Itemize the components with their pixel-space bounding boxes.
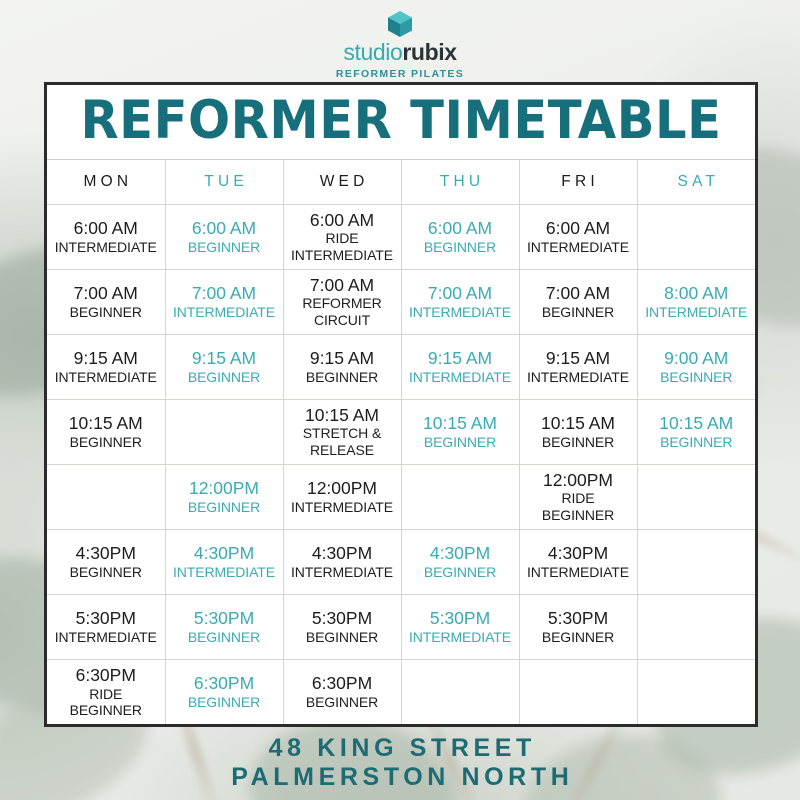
class-cell-sat[interactable]: 10:15 AMBEGINNER <box>637 399 755 464</box>
class-label: BEGINNER <box>49 304 163 320</box>
class-cell-wed[interactable]: 4:30PMINTERMEDIATE <box>283 529 401 594</box>
timetable-header: MONTUEWEDTHUFRISAT <box>47 160 755 204</box>
class-time: 6:00 AM <box>49 218 163 238</box>
timetable-row: 4:30PMBEGINNER4:30PMINTERMEDIATE4:30PMIN… <box>47 529 755 594</box>
class-label: INTERMEDIATE <box>522 239 635 255</box>
class-cell-content: 6:00 AMBEGINNER <box>168 218 281 255</box>
class-label: BEGINNER <box>522 629 635 645</box>
class-cell-fri[interactable]: 6:00 AMINTERMEDIATE <box>519 204 637 269</box>
class-time: 12:00PM <box>286 478 399 498</box>
class-time: 6:30PM <box>286 673 399 693</box>
brand-name-rubix: rubix <box>402 39 456 65</box>
class-cell-empty <box>519 659 637 724</box>
class-label: BEGINNER <box>168 694 281 710</box>
class-cell-empty <box>637 464 755 529</box>
class-label: BEGINNER <box>286 369 399 385</box>
class-label: BEGINNER <box>404 564 517 580</box>
class-cell-thu[interactable]: 5:30PMINTERMEDIATE <box>401 594 519 659</box>
class-cell-mon[interactable]: 6:00 AMINTERMEDIATE <box>47 204 165 269</box>
class-label: INTERMEDIATE <box>404 304 517 320</box>
class-time: 10:15 AM <box>640 413 754 433</box>
class-label: CIRCUIT <box>286 312 399 328</box>
timetable-row: 10:15 AMBEGINNER10:15 AMSTRETCH &RELEASE… <box>47 399 755 464</box>
class-label: INTERMEDIATE <box>522 369 635 385</box>
class-cell-mon[interactable]: 4:30PMBEGINNER <box>47 529 165 594</box>
class-time: 10:15 AM <box>404 413 517 433</box>
class-cell-content: 8:00 AMINTERMEDIATE <box>640 283 754 320</box>
class-cell-content: 4:30PMINTERMEDIATE <box>168 543 281 580</box>
class-time: 7:00 AM <box>49 283 163 303</box>
class-cell-content: 7:00 AMREFORMERCIRCUIT <box>286 275 399 328</box>
class-cell-tue[interactable]: 12:00PMBEGINNER <box>165 464 283 529</box>
class-label: INTERMEDIATE <box>522 564 635 580</box>
class-time: 5:30PM <box>168 608 281 628</box>
day-header-row: MONTUEWEDTHUFRISAT <box>47 160 755 204</box>
class-cell-empty <box>47 464 165 529</box>
class-cell-empty <box>401 659 519 724</box>
class-cell-wed[interactable]: 5:30PMBEGINNER <box>283 594 401 659</box>
class-time: 9:00 AM <box>640 348 754 368</box>
cube-icon <box>387 10 413 38</box>
class-cell-content: 6:30PMRIDEBEGINNER <box>49 665 163 718</box>
class-cell-content: 6:30PMBEGINNER <box>168 673 281 710</box>
studio-address: 48 KING STREET PALMERSTON NORTH <box>0 734 800 792</box>
class-label: STRETCH & <box>286 425 399 441</box>
class-cell-empty <box>637 204 755 269</box>
class-cell-fri[interactable]: 7:00 AMBEGINNER <box>519 269 637 334</box>
class-cell-content: 7:00 AMBEGINNER <box>49 283 163 320</box>
class-label: BEGINNER <box>168 239 281 255</box>
class-label: BEGINNER <box>49 434 163 450</box>
class-label: BEGINNER <box>49 702 163 718</box>
class-cell-content: 10:15 AMBEGINNER <box>640 413 754 450</box>
timetable-row: 9:15 AMINTERMEDIATE9:15 AMBEGINNER9:15 A… <box>47 334 755 399</box>
class-cell-content: 9:15 AMINTERMEDIATE <box>522 348 635 385</box>
day-header-sat: SAT <box>637 160 755 204</box>
day-header-fri: FRI <box>519 160 637 204</box>
class-label: BEGINNER <box>168 499 281 515</box>
class-label: INTERMEDIATE <box>404 369 517 385</box>
brand-logo: studiorubix REFORMER PILATES <box>0 10 800 80</box>
timetable-row: 12:00PMBEGINNER12:00PMINTERMEDIATE12:00P… <box>47 464 755 529</box>
class-cell-tue[interactable]: 7:00 AMINTERMEDIATE <box>165 269 283 334</box>
class-label: INTERMEDIATE <box>49 369 163 385</box>
class-cell-tue[interactable]: 9:15 AMBEGINNER <box>165 334 283 399</box>
class-time: 6:30PM <box>49 665 163 685</box>
class-time: 4:30PM <box>286 543 399 563</box>
class-label: INTERMEDIATE <box>168 304 281 320</box>
class-cell-thu[interactable]: 4:30PMBEGINNER <box>401 529 519 594</box>
class-label: BEGINNER <box>404 434 517 450</box>
class-label: BEGINNER <box>168 369 281 385</box>
class-cell-content: 9:15 AMBEGINNER <box>168 348 281 385</box>
class-time: 6:00 AM <box>404 218 517 238</box>
class-time: 4:30PM <box>522 543 635 563</box>
class-cell-content: 12:00PMBEGINNER <box>168 478 281 515</box>
class-cell-content: 6:00 AMINTERMEDIATE <box>522 218 635 255</box>
class-label: BEGINNER <box>286 629 399 645</box>
class-cell-sat[interactable]: 8:00 AMINTERMEDIATE <box>637 269 755 334</box>
class-cell-mon[interactable]: 6:30PMRIDEBEGINNER <box>47 659 165 724</box>
class-time: 9:15 AM <box>286 348 399 368</box>
class-label: INTERMEDIATE <box>640 304 754 320</box>
class-cell-content: 12:00PMRIDEBEGINNER <box>522 470 635 523</box>
class-cell-content: 6:30PMBEGINNER <box>286 673 399 710</box>
class-time: 6:00 AM <box>168 218 281 238</box>
class-cell-content: 6:00 AMRIDEINTERMEDIATE <box>286 210 399 263</box>
class-cell-content: 7:00 AMBEGINNER <box>522 283 635 320</box>
address-line-2: PALMERSTON NORTH <box>0 763 800 792</box>
class-cell-content: 9:00 AMBEGINNER <box>640 348 754 385</box>
class-cell-wed[interactable]: 7:00 AMREFORMERCIRCUIT <box>283 269 401 334</box>
class-label: RIDE <box>286 230 399 246</box>
class-cell-empty <box>637 594 755 659</box>
class-cell-fri[interactable]: 5:30PMBEGINNER <box>519 594 637 659</box>
class-cell-empty <box>401 464 519 529</box>
class-label: INTERMEDIATE <box>49 629 163 645</box>
class-time: 12:00PM <box>522 470 635 490</box>
day-header-thu: THU <box>401 160 519 204</box>
class-cell-content: 10:15 AMBEGINNER <box>522 413 635 450</box>
class-cell-mon[interactable]: 7:00 AMBEGINNER <box>47 269 165 334</box>
timetable-body: 6:00 AMINTERMEDIATE6:00 AMBEGINNER6:00 A… <box>47 204 755 724</box>
class-time: 6:00 AM <box>286 210 399 230</box>
class-cell-tue[interactable]: 6:00 AMBEGINNER <box>165 204 283 269</box>
class-time: 6:00 AM <box>522 218 635 238</box>
timetable-grid: MONTUEWEDTHUFRISAT 6:00 AMINTERMEDIATE6:… <box>47 160 755 724</box>
class-time: 5:30PM <box>49 608 163 628</box>
class-label: BEGINNER <box>640 434 754 450</box>
class-label: INTERMEDIATE <box>286 499 399 515</box>
class-time: 7:00 AM <box>522 283 635 303</box>
class-cell-wed[interactable]: 12:00PMINTERMEDIATE <box>283 464 401 529</box>
timetable-row: 7:00 AMBEGINNER7:00 AMINTERMEDIATE7:00 A… <box>47 269 755 334</box>
class-cell-content: 10:15 AMBEGINNER <box>404 413 517 450</box>
day-header-mon: MON <box>47 160 165 204</box>
class-time: 10:15 AM <box>522 413 635 433</box>
class-label: BEGINNER <box>640 369 754 385</box>
day-header-wed: WED <box>283 160 401 204</box>
class-time: 8:00 AM <box>640 283 754 303</box>
class-label: INTERMEDIATE <box>286 247 399 263</box>
class-cell-content: 10:15 AMSTRETCH &RELEASE <box>286 405 399 458</box>
address-line-1: 48 KING STREET <box>0 734 800 763</box>
class-label: BEGINNER <box>168 629 281 645</box>
class-cell-content: 4:30PMINTERMEDIATE <box>286 543 399 580</box>
timetable-row: 5:30PMINTERMEDIATE5:30PMBEGINNER5:30PMBE… <box>47 594 755 659</box>
class-time: 4:30PM <box>404 543 517 563</box>
class-cell-mon[interactable]: 5:30PMINTERMEDIATE <box>47 594 165 659</box>
class-label: BEGINNER <box>522 507 635 523</box>
class-cell-tue[interactable]: 5:30PMBEGINNER <box>165 594 283 659</box>
class-time: 10:15 AM <box>49 413 163 433</box>
class-label: BEGINNER <box>286 694 399 710</box>
class-cell-fri[interactable]: 10:15 AMBEGINNER <box>519 399 637 464</box>
class-time: 9:15 AM <box>404 348 517 368</box>
class-cell-content: 4:30PMBEGINNER <box>49 543 163 580</box>
class-label: RELEASE <box>286 442 399 458</box>
class-label: INTERMEDIATE <box>286 564 399 580</box>
brand-tagline: REFORMER PILATES <box>0 68 800 80</box>
class-label: RIDE <box>49 686 163 702</box>
timetable-panel: REFORMER TIMETABLE MONTUEWEDTHUFRISAT 6:… <box>44 82 758 727</box>
class-cell-wed[interactable]: 9:15 AMBEGINNER <box>283 334 401 399</box>
class-time: 9:15 AM <box>522 348 635 368</box>
page-title: REFORMER TIMETABLE <box>33 94 769 147</box>
class-cell-mon[interactable]: 10:15 AMBEGINNER <box>47 399 165 464</box>
class-cell-fri[interactable]: 4:30PMINTERMEDIATE <box>519 529 637 594</box>
class-cell-content: 12:00PMINTERMEDIATE <box>286 478 399 515</box>
class-cell-content: 6:00 AMINTERMEDIATE <box>49 218 163 255</box>
class-cell-content: 4:30PMINTERMEDIATE <box>522 543 635 580</box>
class-label: BEGINNER <box>49 564 163 580</box>
class-cell-content: 7:00 AMINTERMEDIATE <box>404 283 517 320</box>
class-time: 5:30PM <box>286 608 399 628</box>
class-time: 9:15 AM <box>49 348 163 368</box>
class-cell-content: 4:30PMBEGINNER <box>404 543 517 580</box>
class-cell-content: 7:00 AMINTERMEDIATE <box>168 283 281 320</box>
class-cell-thu[interactable]: 10:15 AMBEGINNER <box>401 399 519 464</box>
class-cell-content: 5:30PMINTERMEDIATE <box>404 608 517 645</box>
class-time: 6:30PM <box>168 673 281 693</box>
brand-name-studio: studio <box>343 39 402 65</box>
class-cell-content: 5:30PMINTERMEDIATE <box>49 608 163 645</box>
brand-wordmark: studiorubix <box>0 40 800 65</box>
class-cell-content: 10:15 AMBEGINNER <box>49 413 163 450</box>
class-cell-thu[interactable]: 9:15 AMINTERMEDIATE <box>401 334 519 399</box>
class-time: 5:30PM <box>404 608 517 628</box>
timetable-row: 6:00 AMINTERMEDIATE6:00 AMBEGINNER6:00 A… <box>47 204 755 269</box>
class-cell-empty <box>637 529 755 594</box>
class-time: 9:15 AM <box>168 348 281 368</box>
class-cell-mon[interactable]: 9:15 AMINTERMEDIATE <box>47 334 165 399</box>
class-label: BEGINNER <box>522 304 635 320</box>
class-cell-content: 9:15 AMINTERMEDIATE <box>49 348 163 385</box>
class-time: 7:00 AM <box>404 283 517 303</box>
class-cell-sat[interactable]: 9:00 AMBEGINNER <box>637 334 755 399</box>
class-label: RIDE <box>522 490 635 506</box>
title-band: REFORMER TIMETABLE <box>47 85 755 160</box>
class-cell-wed[interactable]: 10:15 AMSTRETCH &RELEASE <box>283 399 401 464</box>
class-cell-content: 5:30PMBEGINNER <box>168 608 281 645</box>
class-cell-thu[interactable]: 6:00 AMBEGINNER <box>401 204 519 269</box>
class-cell-content: 9:15 AMINTERMEDIATE <box>404 348 517 385</box>
class-label: INTERMEDIATE <box>168 564 281 580</box>
class-cell-empty <box>637 659 755 724</box>
class-time: 4:30PM <box>168 543 281 563</box>
class-cell-content: 5:30PMBEGINNER <box>522 608 635 645</box>
class-cell-wed[interactable]: 6:00 AMRIDEINTERMEDIATE <box>283 204 401 269</box>
class-cell-tue[interactable]: 4:30PMINTERMEDIATE <box>165 529 283 594</box>
class-cell-empty <box>165 399 283 464</box>
class-label: BEGINNER <box>404 239 517 255</box>
class-cell-content: 6:00 AMBEGINNER <box>404 218 517 255</box>
class-cell-thu[interactable]: 7:00 AMINTERMEDIATE <box>401 269 519 334</box>
class-time: 4:30PM <box>49 543 163 563</box>
class-time: 5:30PM <box>522 608 635 628</box>
class-time: 7:00 AM <box>286 275 399 295</box>
class-label: INTERMEDIATE <box>49 239 163 255</box>
class-cell-content: 5:30PMBEGINNER <box>286 608 399 645</box>
class-cell-fri[interactable]: 9:15 AMINTERMEDIATE <box>519 334 637 399</box>
day-header-tue: TUE <box>165 160 283 204</box>
class-label: INTERMEDIATE <box>404 629 517 645</box>
class-label: BEGINNER <box>522 434 635 450</box>
timetable-row: 6:30PMRIDEBEGINNER6:30PMBEGINNER6:30PMBE… <box>47 659 755 724</box>
class-time: 12:00PM <box>168 478 281 498</box>
class-cell-wed[interactable]: 6:30PMBEGINNER <box>283 659 401 724</box>
class-time: 7:00 AM <box>168 283 281 303</box>
class-cell-fri[interactable]: 12:00PMRIDEBEGINNER <box>519 464 637 529</box>
class-cell-tue[interactable]: 6:30PMBEGINNER <box>165 659 283 724</box>
class-time: 10:15 AM <box>286 405 399 425</box>
class-cell-content: 9:15 AMBEGINNER <box>286 348 399 385</box>
class-label: REFORMER <box>286 295 399 311</box>
